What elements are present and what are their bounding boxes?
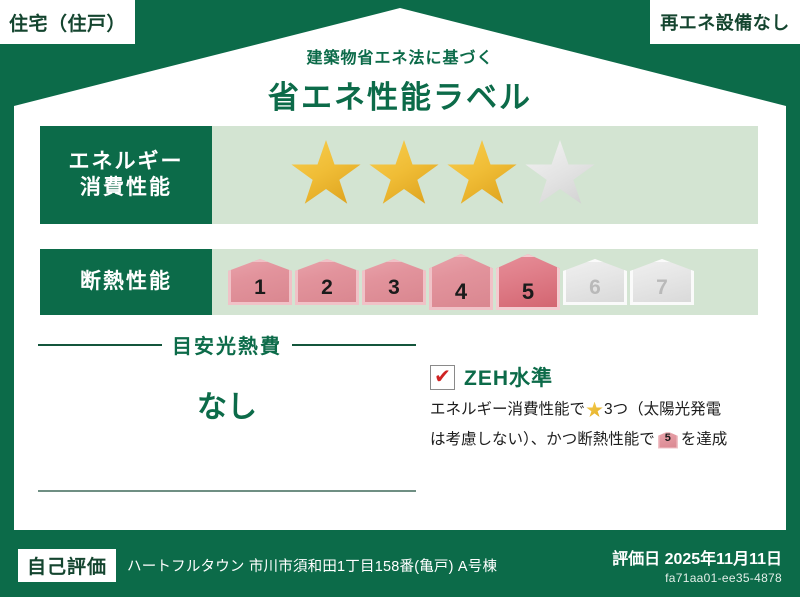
zeh-title: ZEH水準 bbox=[464, 362, 553, 392]
energy-label-line1: エネルギー bbox=[69, 149, 184, 175]
insulation-label-text: 断熱性能 bbox=[80, 269, 172, 295]
utility-cost-value: なし bbox=[38, 382, 416, 426]
rule-right bbox=[292, 344, 416, 346]
footer-right-group: 評価日 2025年11月11日 fa71aa01-ee35-4878 bbox=[612, 545, 782, 585]
insulation-house-2: 2 bbox=[295, 259, 359, 305]
energy-performance-label: 住宅（住戸） 再エネ設備なし 建築物省エネ法に基づく 省エネ性能ラベル エネルギ… bbox=[0, 0, 800, 597]
utility-cost-heading: 目安光熱費 bbox=[172, 330, 282, 359]
rule-left bbox=[38, 344, 162, 346]
checkmark-icon: ✔ bbox=[430, 365, 455, 390]
zeh-line1-text-b: 3つ（太陽光発電 bbox=[604, 398, 721, 422]
star-icon-4 bbox=[524, 140, 596, 210]
inline-star-icon bbox=[586, 402, 603, 419]
building-type-badge: 住宅（住戸） bbox=[0, 0, 135, 44]
insulation-house-5: 5 bbox=[496, 254, 560, 310]
insulation-house-3: 3 bbox=[362, 259, 426, 305]
insulation-performance-row: 断熱性能 1234567 bbox=[40, 249, 758, 315]
insulation-house-1: 1 bbox=[228, 259, 292, 305]
insulation-scale: 1234567 bbox=[212, 249, 758, 315]
page-title: 省エネ性能ラベル bbox=[0, 72, 800, 117]
inline-house-icon: 5 bbox=[658, 432, 678, 449]
energy-consumption-row: エネルギー 消費性能 bbox=[40, 126, 758, 224]
label-footer: 自己評価 ハートフルタウン 市川市須和田1丁目158番(亀戸) A号棟 評価日 … bbox=[0, 533, 800, 597]
star-icon-3 bbox=[446, 140, 518, 210]
utility-cost-header: 目安光熱費 bbox=[38, 330, 416, 359]
evaluation-date: 評価日 2025年11月11日 bbox=[612, 545, 782, 569]
insulation-house-6: 6 bbox=[563, 259, 627, 305]
insulation-house-7: 7 bbox=[630, 259, 694, 305]
star-icon-2 bbox=[368, 140, 440, 210]
property-address: ハートフルタウン 市川市須和田1丁目158番(亀戸) A号棟 bbox=[127, 555, 497, 576]
star-rating bbox=[212, 126, 758, 224]
insulation-house-4: 4 bbox=[429, 254, 493, 310]
document-id: fa71aa01-ee35-4878 bbox=[612, 571, 782, 585]
energy-consumption-label: エネルギー 消費性能 bbox=[40, 126, 212, 224]
insulation-label: 断熱性能 bbox=[40, 249, 212, 315]
label-title-group: 建築物省エネ法に基づく 省エネ性能ラベル bbox=[0, 44, 800, 117]
evaluation-type-badge: 自己評価 bbox=[18, 549, 116, 582]
zeh-line1-text-a: エネルギー消費性能で bbox=[430, 398, 585, 422]
energy-label-line2: 消費性能 bbox=[80, 175, 172, 201]
footer-left-group: 自己評価 ハートフルタウン 市川市須和田1丁目158番(亀戸) A号棟 bbox=[18, 549, 612, 582]
utility-cost-underline bbox=[38, 490, 416, 492]
zeh-title-row: ✔ ZEH水準 bbox=[430, 362, 760, 392]
title-subtitle: 建築物省エネ法に基づく bbox=[0, 44, 800, 68]
zeh-description-line2: は考慮しない）、かつ断熱性能で 5 を達成 bbox=[430, 428, 760, 452]
renewable-equipment-badge: 再エネ設備なし bbox=[650, 0, 800, 44]
zeh-description-line1: エネルギー消費性能で 3つ（太陽光発電 bbox=[430, 398, 760, 422]
zeh-line2-text-b: を達成 bbox=[681, 428, 728, 452]
zeh-standard-block: ✔ ZEH水準 エネルギー消費性能で 3つ（太陽光発電 は考慮しない）、かつ断熱… bbox=[430, 362, 760, 452]
star-icon-1 bbox=[290, 140, 362, 210]
zeh-line2-text-a: は考慮しない）、かつ断熱性能で bbox=[430, 428, 655, 452]
